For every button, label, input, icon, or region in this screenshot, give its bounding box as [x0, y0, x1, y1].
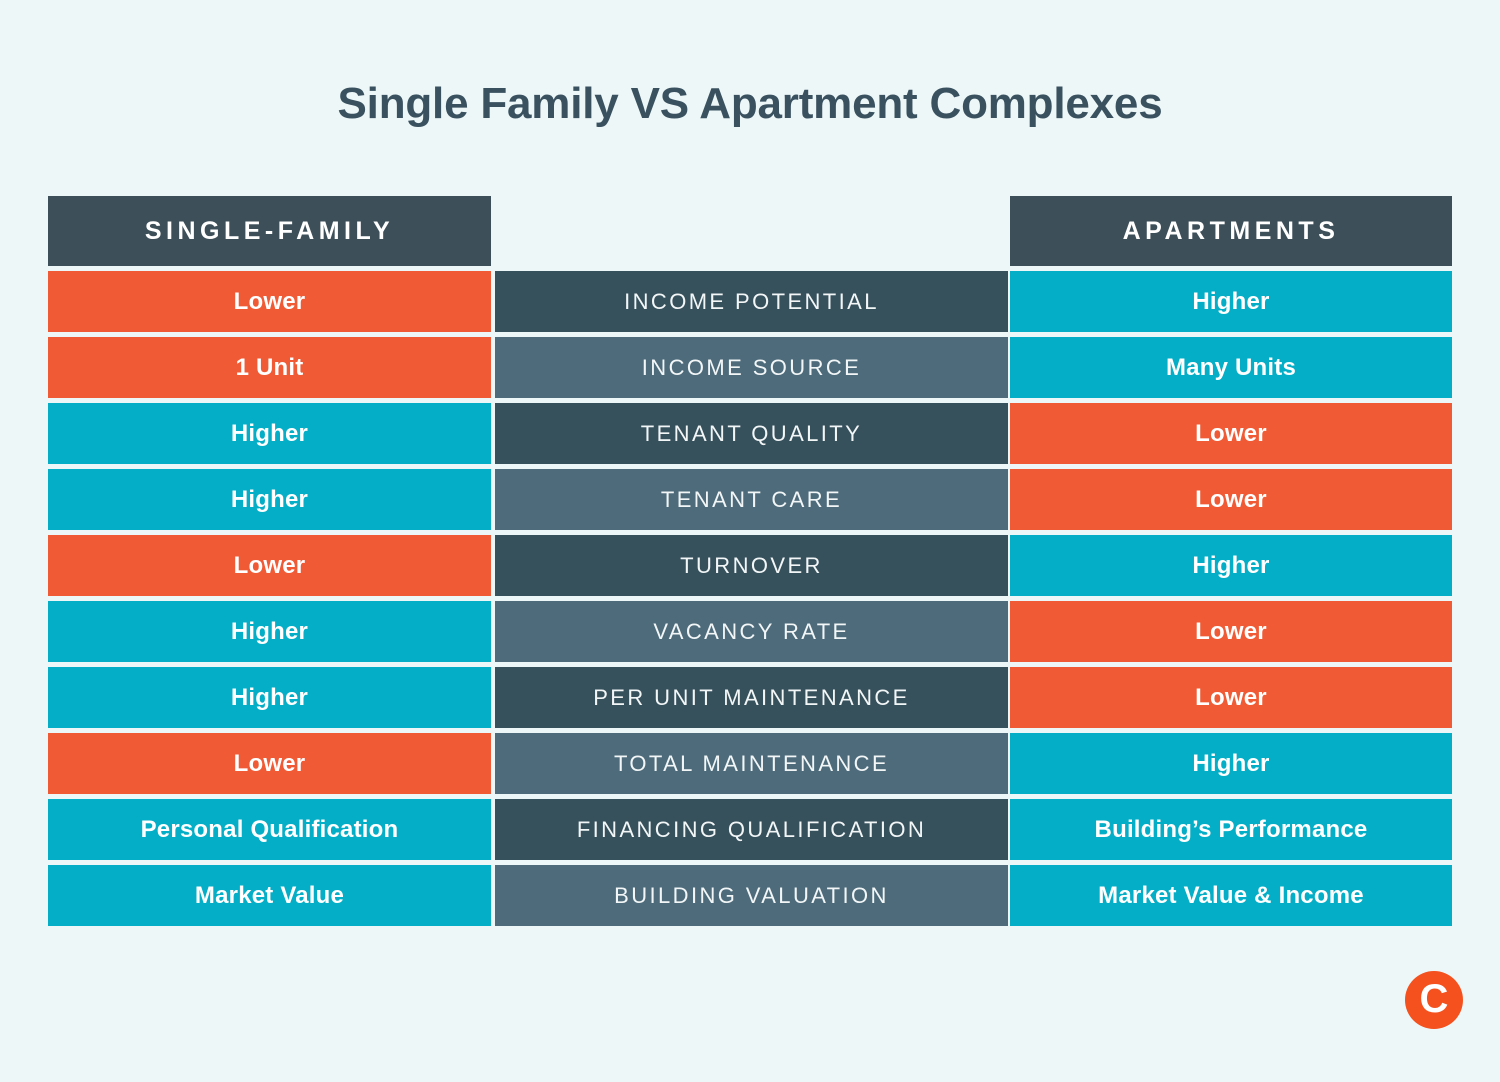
brand-logo[interactable]: C: [1405, 971, 1463, 1029]
brand-logo-letter: C: [1420, 979, 1449, 1019]
cell-apartments-value: Higher: [1010, 535, 1452, 596]
cell-single-family-value: Personal Qualification: [48, 799, 491, 860]
page-title: Single Family VS Apartment Complexes: [0, 78, 1500, 131]
cell-single-family-value: Higher: [48, 601, 491, 662]
cell-single-family-value: Lower: [48, 535, 491, 596]
cell-apartments-value: Higher: [1010, 733, 1452, 794]
infographic-page: Single Family VS Apartment Complexes SIN…: [0, 0, 1500, 1082]
cell-criterion-label: TENANT CARE: [495, 469, 1008, 530]
cell-single-family-value: Higher: [48, 667, 491, 728]
cell-apartments-value: Higher: [1010, 271, 1452, 332]
cell-apartments-value: Lower: [1010, 403, 1452, 464]
cell-single-family-value: Market Value: [48, 865, 491, 926]
header-single-family: SINGLE-FAMILY: [48, 196, 491, 266]
header-apartments: APARTMENTS: [1010, 196, 1452, 266]
table-row: HigherVACANCY RATELower: [48, 601, 1452, 662]
table-row: HigherPER UNIT MAINTENANCELower: [48, 667, 1452, 728]
cell-apartments-value: Building’s Performance: [1010, 799, 1452, 860]
cell-criterion-label: VACANCY RATE: [495, 601, 1008, 662]
cell-apartments-value: Lower: [1010, 601, 1452, 662]
cell-criterion-label: INCOME SOURCE: [495, 337, 1008, 398]
cell-single-family-value: Higher: [48, 469, 491, 530]
cell-criterion-label: INCOME POTENTIAL: [495, 271, 1008, 332]
cell-criterion-label: FINANCING QUALIFICATION: [495, 799, 1008, 860]
table-row: LowerTURNOVERHigher: [48, 535, 1452, 596]
table-row: 1 UnitINCOME SOURCEMany Units: [48, 337, 1452, 398]
cell-single-family-value: Higher: [48, 403, 491, 464]
table-row: LowerTOTAL MAINTENANCEHigher: [48, 733, 1452, 794]
table-header-row: SINGLE-FAMILY APARTMENTS: [48, 196, 1452, 266]
cell-single-family-value: 1 Unit: [48, 337, 491, 398]
cell-apartments-value: Lower: [1010, 667, 1452, 728]
header-middle-blank: [495, 196, 1008, 266]
cell-single-family-value: Lower: [48, 733, 491, 794]
cell-criterion-label: TENANT QUALITY: [495, 403, 1008, 464]
table-row: Personal QualificationFINANCING QUALIFIC…: [48, 799, 1452, 860]
cell-criterion-label: PER UNIT MAINTENANCE: [495, 667, 1008, 728]
comparison-table: SINGLE-FAMILY APARTMENTS LowerINCOME POT…: [48, 196, 1452, 926]
cell-criterion-label: TOTAL MAINTENANCE: [495, 733, 1008, 794]
table-row: LowerINCOME POTENTIALHigher: [48, 271, 1452, 332]
cell-criterion-label: TURNOVER: [495, 535, 1008, 596]
table-body: LowerINCOME POTENTIALHigher1 UnitINCOME …: [48, 271, 1452, 926]
table-row: Market ValueBUILDING VALUATIONMarket Val…: [48, 865, 1452, 926]
cell-criterion-label: BUILDING VALUATION: [495, 865, 1008, 926]
table-row: HigherTENANT QUALITYLower: [48, 403, 1452, 464]
cell-apartments-value: Market Value & Income: [1010, 865, 1452, 926]
table-row: HigherTENANT CARELower: [48, 469, 1452, 530]
cell-apartments-value: Lower: [1010, 469, 1452, 530]
cell-apartments-value: Many Units: [1010, 337, 1452, 398]
cell-single-family-value: Lower: [48, 271, 491, 332]
